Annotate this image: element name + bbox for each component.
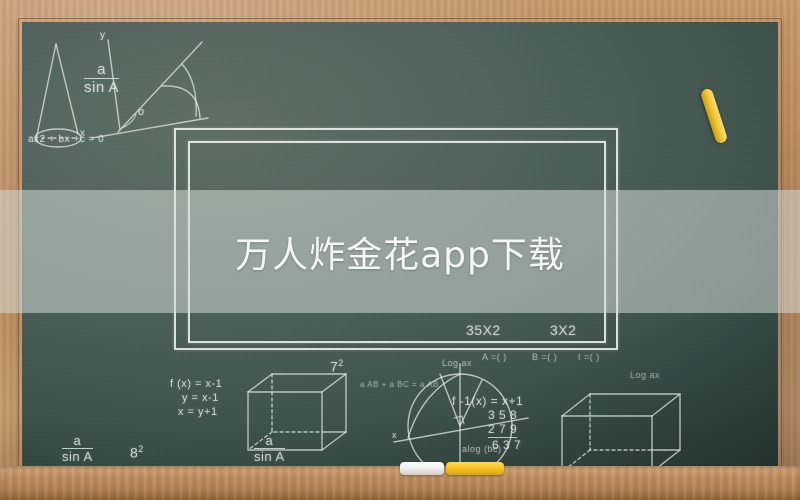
chalk-note-law-of-sines-2: asin A xyxy=(62,434,93,463)
chalk-note-axis-x-circle: x xyxy=(392,430,397,440)
yellow-chalk-icon xyxy=(446,462,504,475)
chalk-note-function-y: y = x-1 xyxy=(182,392,219,404)
chalk-note-function-fx: f (x) = x-1 xyxy=(170,378,222,390)
screenshot-root: a / sin A a sin A ax2 + bx +c = 0 y x o … xyxy=(0,0,800,500)
chalk-note-sum-line-1: 3 5 8 xyxy=(488,408,517,422)
cube-diagram-right xyxy=(562,394,680,466)
chalk-note-sum-line-2: 2 7 9 xyxy=(488,422,517,438)
chalk-note-midpoint-formula: a AB + a BC = a AB xyxy=(360,380,439,389)
chalk-note-inverse-function: f -1(x) = x+1 xyxy=(452,394,523,408)
chalk-note-matrix-a: A =( ) xyxy=(482,352,507,362)
chalk-note-law-of-sines-3: asin A xyxy=(254,434,285,463)
chalk-note-axis-y-top-left: y xyxy=(100,30,106,41)
chalk-note-matrix-i: I =( ) xyxy=(578,352,600,362)
cone-diagram xyxy=(35,44,81,147)
chalk-note-quadratic: ax2 + bx +c = 0 xyxy=(28,134,104,145)
title-banner: 万人炸金花app下载 xyxy=(0,190,800,313)
chalk-note-seven-squared: 72 xyxy=(330,358,344,375)
quadrant-arc xyxy=(408,374,460,438)
chalk-note-axis-x-top-left: x xyxy=(80,128,86,139)
angle-axes-diagram xyxy=(92,40,208,138)
page-title: 万人炸金花app下载 xyxy=(235,226,565,278)
cube-diagram-left xyxy=(248,374,346,450)
chalk-note-law-of-sines-1: a / sin A a sin A xyxy=(84,62,119,96)
white-chalk-icon xyxy=(400,462,444,475)
chalk-note-log-bc: alog (bc) xyxy=(462,444,502,454)
chalk-note-sum-line-3: 6 3 7 xyxy=(492,438,521,452)
chalk-note-log-ax: Log ax xyxy=(442,358,472,368)
chalk-note-log-ax-2: Log ax xyxy=(630,370,660,380)
yellow-chalk-upright-icon xyxy=(700,88,729,145)
circle-axes-diagram xyxy=(394,364,528,466)
chalk-note-angle-theta: o xyxy=(138,106,145,118)
chalk-note-eight-squared: 82 xyxy=(130,444,144,461)
chalk-note-function-x: x = y+1 xyxy=(178,406,218,418)
chalk-note-matrix-b: B =( ) xyxy=(532,352,557,362)
